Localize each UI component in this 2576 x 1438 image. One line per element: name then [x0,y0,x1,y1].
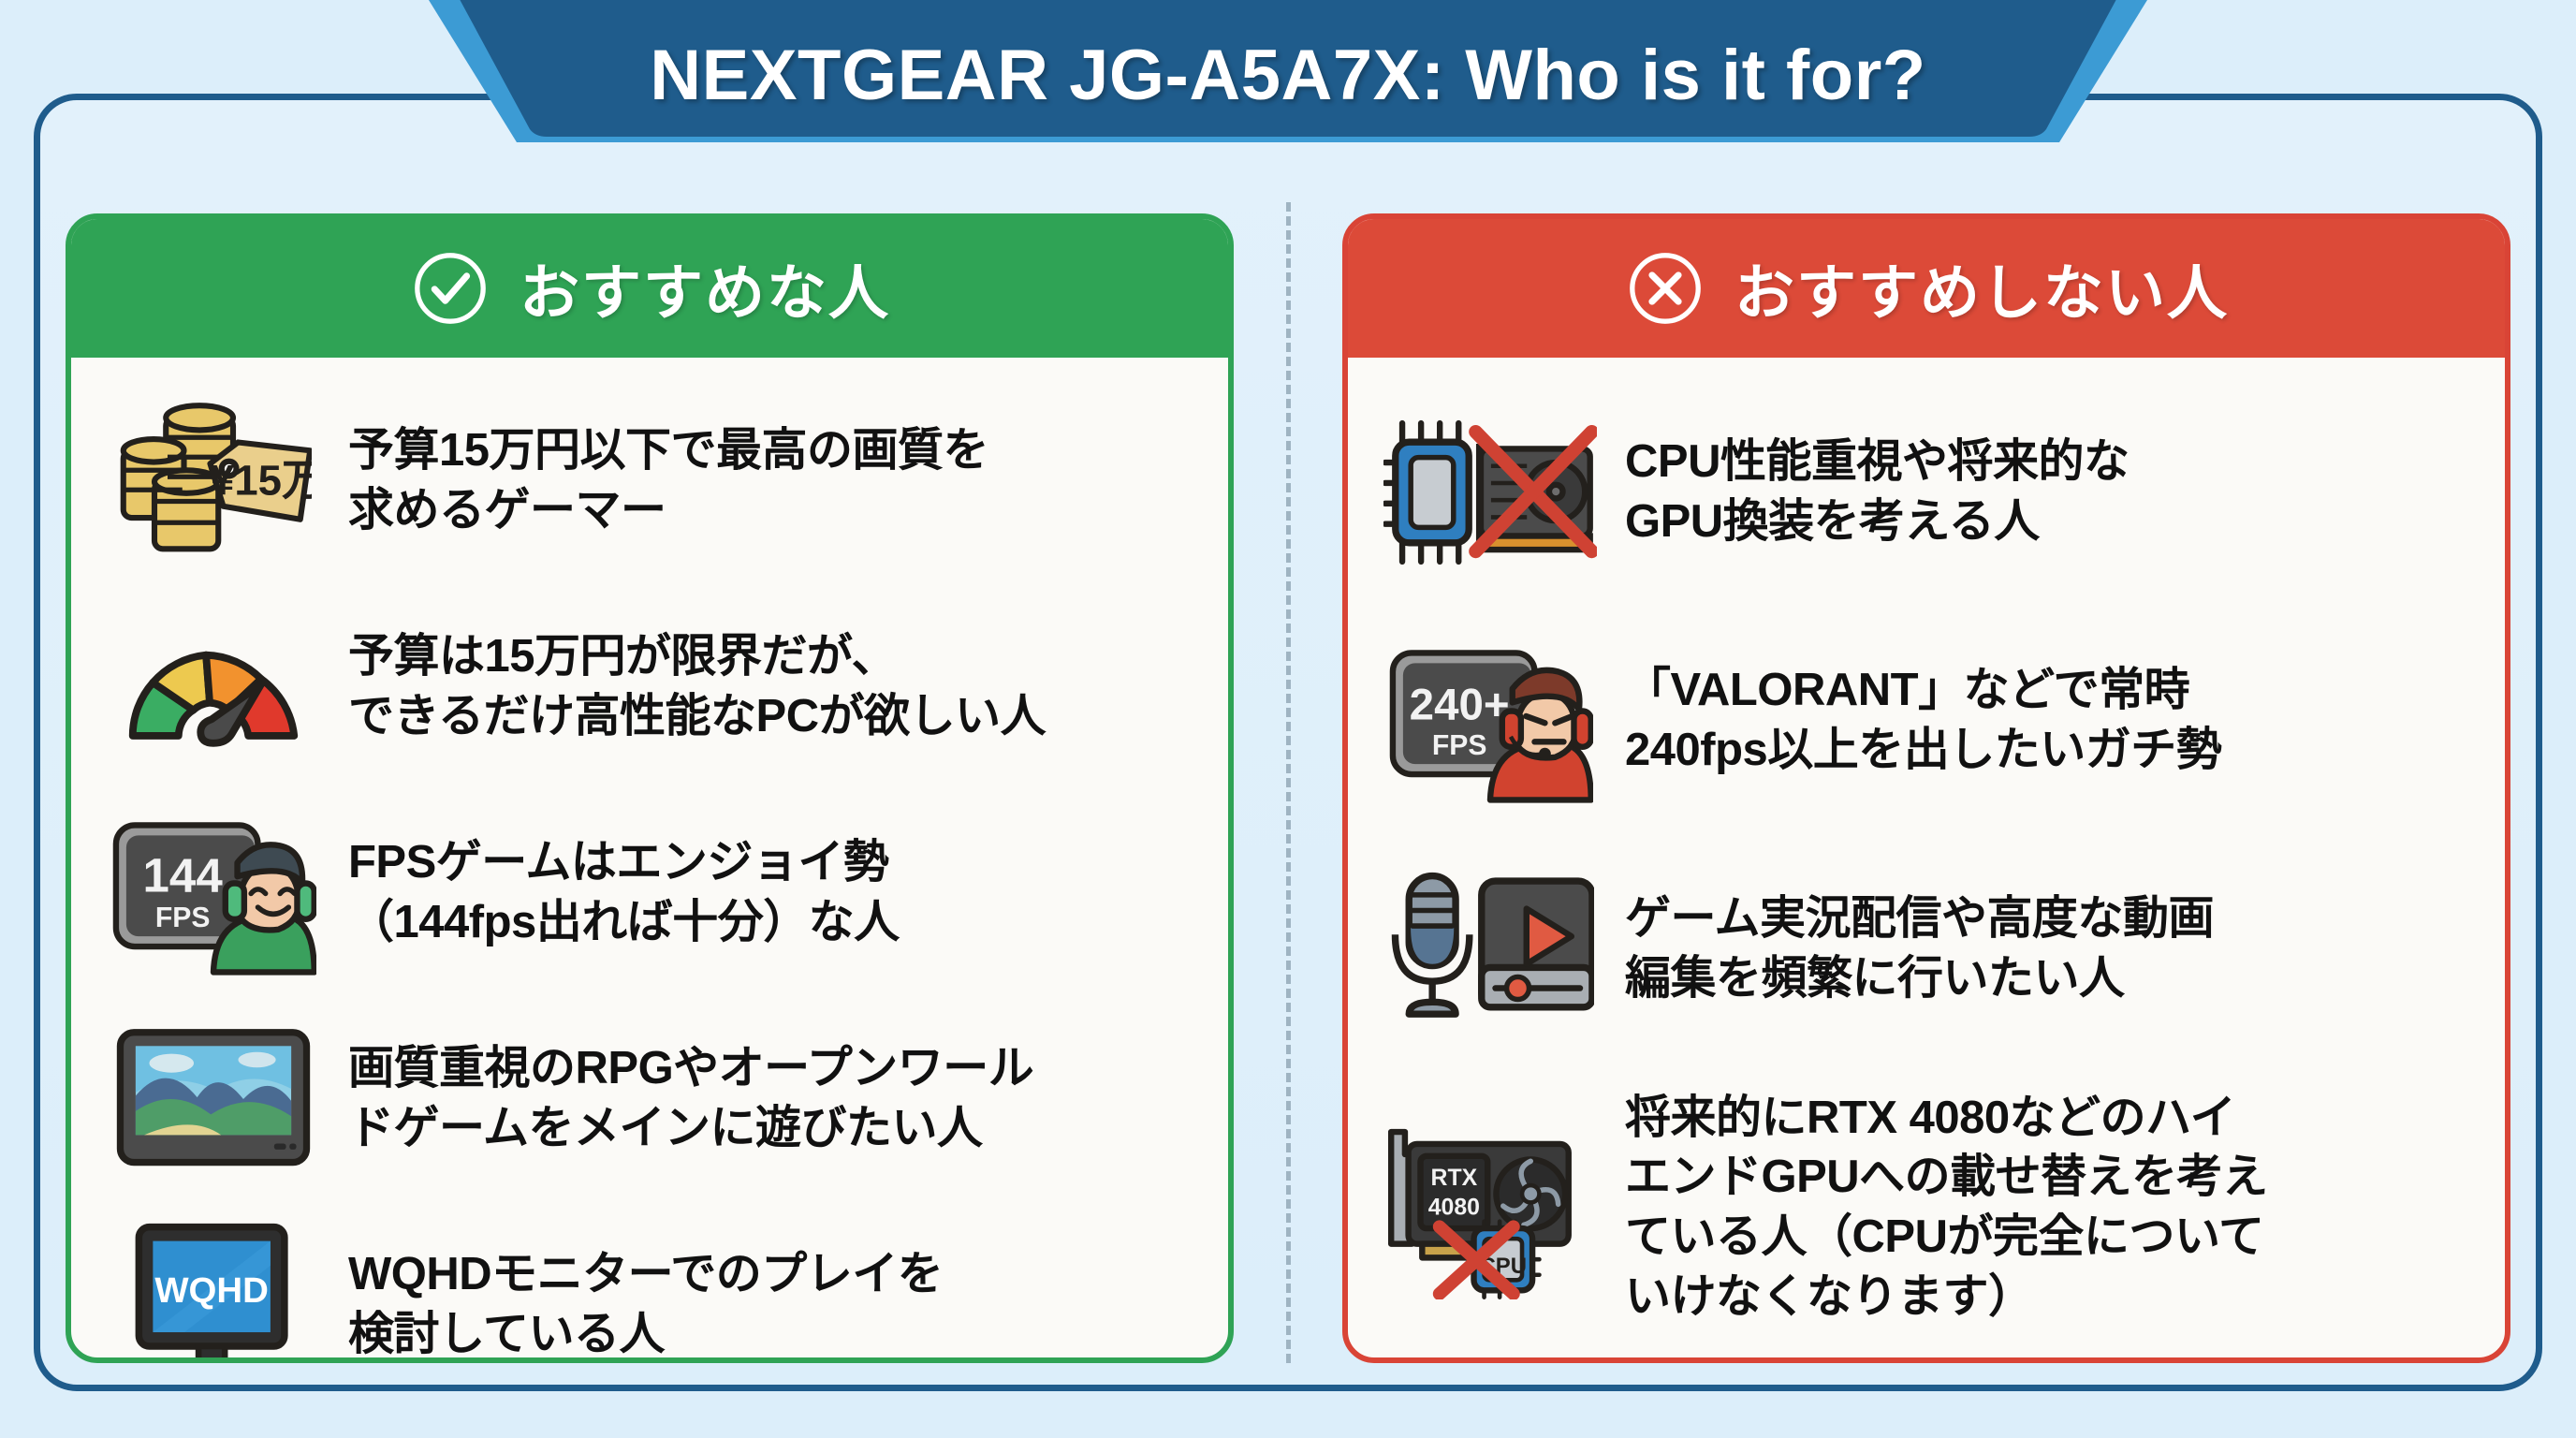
list-item-text: 将来的にRTX 4080などのハイ エンドGPUへの載せ替えを考え ている人（C… [1625,1089,2473,1328]
circle-check-icon [409,247,491,330]
svg-text:RTX: RTX [1431,1166,1478,1191]
list-item-text: ゲーム実況配信や高度な動画 編集を頻繁に行いたい人 [1625,889,2473,1008]
list-item: CPU性能重視や将来的な GPU換装を考える人 [1380,382,2473,603]
icon-container: RTX 4080 CPU [1380,1119,1601,1297]
list-item: ゲーム実況配信や高度な動画 編集を頻繁に行いたい人 [1380,839,2473,1060]
list-item: ¥15万 予算15万円以下で最高の画質を 求めるゲーマー [103,382,1196,580]
svg-text:FPS: FPS [1432,730,1487,761]
monitor-landscape-icon [115,1021,312,1177]
list-item-text: WQHDモニターでのプレイを 検討している人 [348,1245,1196,1363]
list-item: 予算は15万円が限界だが、 できるだけ高性能なPCが欲しい人 [103,588,1196,786]
panel-header-recommended: おすすめな人 [71,219,1228,358]
mic-video-icon [1386,871,1594,1028]
panel-header-label: おすすめな人 [520,245,890,331]
wqhd-label: WQHD [154,1270,269,1311]
coins-price-tag-icon: ¥15万 [115,400,312,564]
fps-144-gamer-icon: 144 FPS [110,810,316,976]
svg-text:FPS: FPS [155,902,211,933]
icon-container: 240+ FPS [1380,632,1601,810]
wqhd-monitor-icon: WQHD [129,1222,298,1363]
fps-240-gamer-icon: 240+ FPS [1387,638,1593,804]
panel-header-label: おすすめしない人 [1734,245,2229,331]
panel-not-recommended: おすすめしない人 [1342,213,2510,1363]
cpu-gpu-crossed-icon [1383,413,1597,572]
list-item: WQHD WQHDモニターでのプレイを 検討している人 [103,1206,1196,1363]
panel-recommended: おすすめな人 [66,213,1234,1363]
circle-x-icon [1624,247,1706,330]
panel-divider [1286,202,1291,1363]
svg-text:4080: 4080 [1428,1195,1480,1220]
rtx4080-cpu-crossed-icon: RTX 4080 CPU [1383,1116,1598,1299]
list-item: 240+ FPS [1380,610,2473,831]
icon-container [1380,404,1601,581]
icon-container: WQHD [103,1216,324,1363]
list-item-text: CPU性能重視や将来的な GPU換装を考える人 [1625,433,2473,551]
icon-container: 144 FPS [103,804,324,982]
list-item: RTX 4080 CPU [1380,1067,2473,1348]
list-item-text: FPSゲームはエンジョイ勢 （144fps出れば十分）な人 [348,833,1196,952]
icon-container: ¥15万 [103,392,324,570]
list-item-text: 画質重視のRPGやオープンワール ドゲームをメインに遊びたい人 [348,1039,1196,1158]
icon-container [1380,860,1601,1038]
list-item: 画質重視のRPGやオープンワール ドゲームをメインに遊びたい人 [103,1000,1196,1198]
list-item-text: 予算15万円以下で最高の画質を 求めるゲーマー [348,421,1196,540]
infographic-root: NEXTGEAR JG-A5A7X: Who is it for? おすすめな人 [0,0,2576,1438]
panel-body-recommended: ¥15万 予算15万円以下で最高の画質を 求めるゲーマー [71,358,1228,1357]
price-tag-label: ¥15万 [211,456,312,504]
page-title: NEXTGEAR JG-A5A7X: Who is it for? [429,0,2147,142]
gauge-meter-icon [122,617,305,757]
svg-text:240+: 240+ [1410,681,1510,730]
icon-container [103,598,324,776]
list-item-text: 予算は15万円が限界だが、 できるだけ高性能なPCが欲しい人 [348,627,1196,746]
list-item: 144 FPS F [103,794,1196,992]
list-item-text: 「VALORANT」などで常時 240fps以上を出したいガチ勢 [1625,661,2473,780]
panel-header-not-recommended: おすすめしない人 [1348,219,2505,358]
panel-body-not-recommended: CPU性能重視や将来的な GPU換装を考える人 240+ FPS [1348,358,2505,1357]
icon-container [103,1010,324,1188]
title-banner: NEXTGEAR JG-A5A7X: Who is it for? [429,0,2147,142]
svg-text:144: 144 [142,849,223,902]
